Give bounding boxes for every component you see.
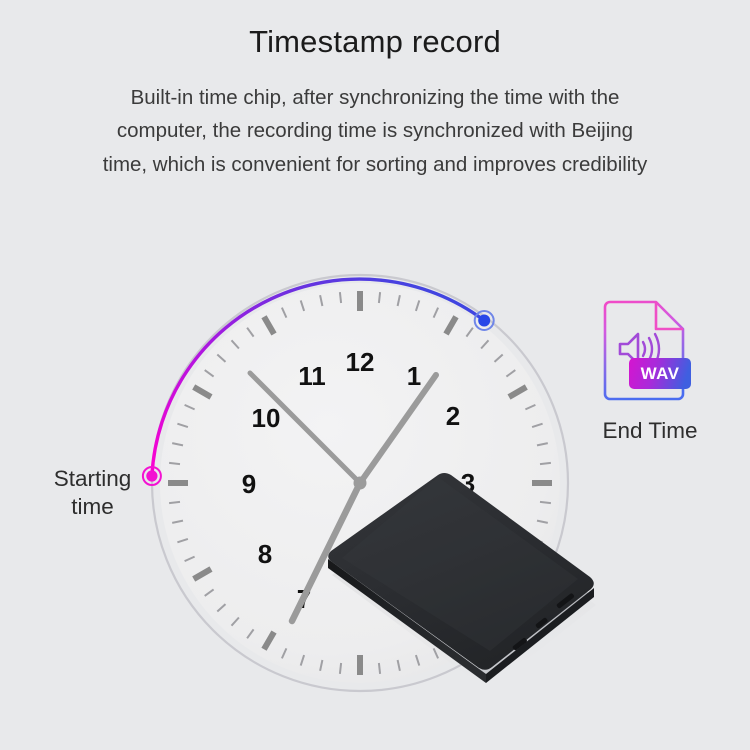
clock-numeral-11: 11 xyxy=(298,361,326,391)
page-subtitle: Built-in time chip, after synchronizing … xyxy=(45,60,705,181)
end-time-marker-dot xyxy=(478,315,490,327)
clock-numeral-1: 1 xyxy=(407,361,421,391)
promo-image-canvas: Timestamp record Built-in time chip, aft… xyxy=(0,0,750,750)
clock-minute-tick xyxy=(169,502,180,503)
page-title: Timestamp record xyxy=(0,0,750,60)
starting-time-label-line2: time xyxy=(20,493,165,521)
wav-file-svg: WAV xyxy=(598,300,694,408)
clock-numeral-9: 9 xyxy=(242,469,256,499)
speaker-wave-1 xyxy=(643,342,645,356)
clock-numeral-10: 10 xyxy=(252,403,281,433)
starting-time-label-line1: Starting xyxy=(20,465,165,493)
clock-numeral-8: 8 xyxy=(258,539,272,569)
clock-minute-tick xyxy=(379,292,380,303)
end-time-label: End Time xyxy=(570,417,730,445)
clock-numeral-2: 2 xyxy=(446,401,460,431)
clock-minute-tick xyxy=(340,292,341,303)
device-svg xyxy=(320,455,620,705)
clock-minute-tick xyxy=(169,463,180,464)
speaker-wave-2 xyxy=(649,338,652,360)
clock-numeral-12: 12 xyxy=(346,347,375,377)
wav-badge-label: WAV xyxy=(641,364,680,383)
header: Timestamp record Built-in time chip, aft… xyxy=(0,0,750,181)
wav-file-icon: WAV xyxy=(598,300,694,408)
subtitle-line-3: time, which is convenient for sorting an… xyxy=(45,148,705,181)
starting-time-label: Starting time xyxy=(20,465,165,521)
subtitle-line-1: Built-in time chip, after synchronizing … xyxy=(45,81,705,114)
voice-recorder-device xyxy=(320,455,620,705)
subtitle-line-2: computer, the recording time is synchron… xyxy=(45,114,705,147)
